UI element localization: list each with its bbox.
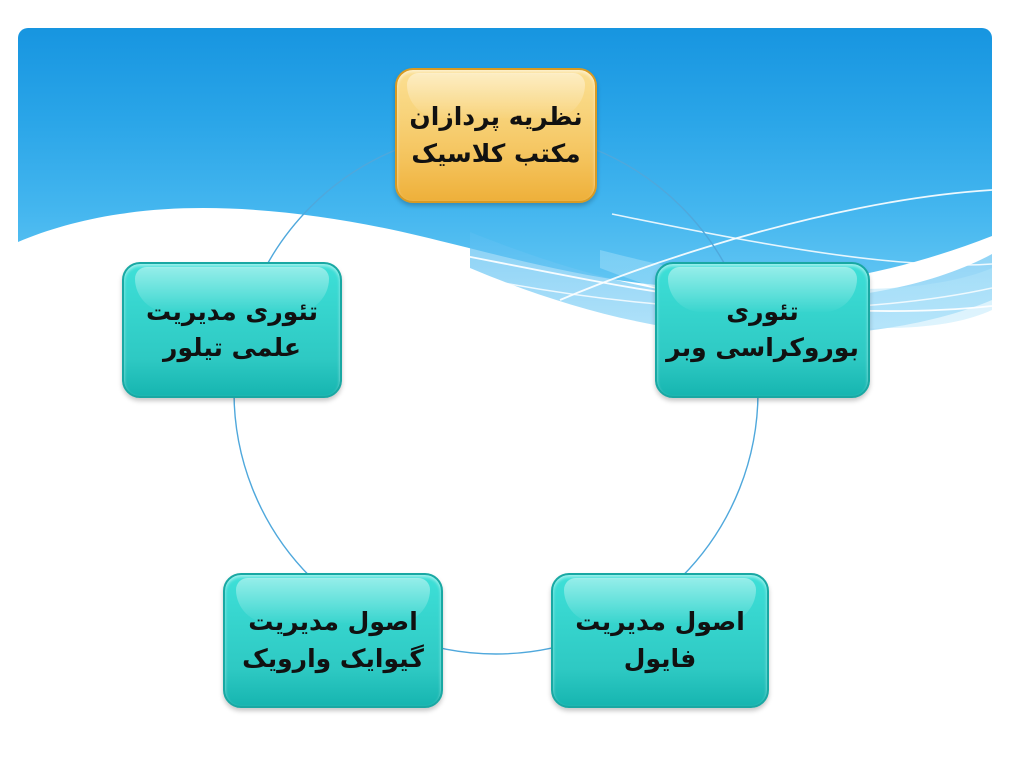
node-label: اصول مدیریت فایول [567,604,753,677]
node-gulick-urwick-management-principles[interactable]: اصول مدیریت گیوایک وارویک [223,573,443,708]
node-taylor-scientific-management[interactable]: تئوری مدیریت علمی تیلور [122,262,342,398]
node-label: نظریه پردازان مکتب کلاسیک [401,99,590,172]
slide-canvas: نظریه پردازان مکتب کلاسیک تئوری مدیریت ع… [0,0,1010,768]
node-label: اصول مدیریت گیوایک وارویک [234,604,432,677]
node-label: تئوری مدیریت علمی تیلور [138,294,326,367]
node-weber-bureaucracy[interactable]: تئوری بوروکراسی وبر [655,262,870,398]
node-classical-school-theorists[interactable]: نظریه پردازان مکتب کلاسیک [395,68,597,203]
node-label: تئوری بوروکراسی وبر [658,294,867,367]
wave-stroke-3 [612,214,992,265]
node-fayol-management-principles[interactable]: اصول مدیریت فایول [551,573,769,708]
